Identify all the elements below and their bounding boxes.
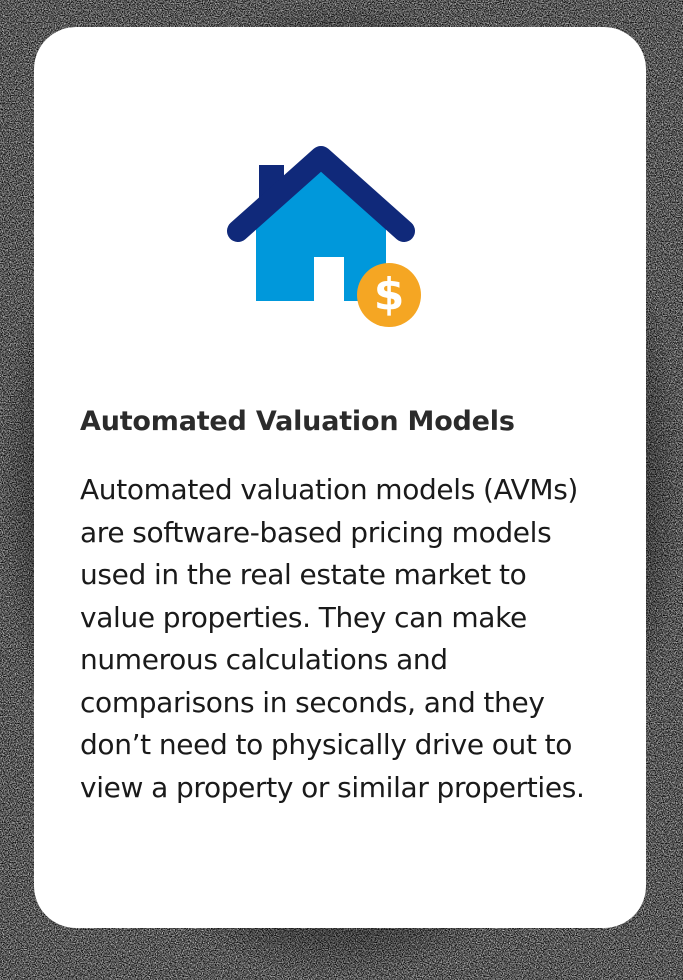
card-icon-area: $ (34, 27, 646, 387)
dollar-badge-symbol: $ (374, 269, 405, 320)
house-with-dollar-icon: $ (226, 145, 426, 335)
card-body-text: Automated valuation models (AVMs) are so… (80, 469, 608, 809)
info-card: $ Automated Valuation Models Automated v… (34, 27, 646, 928)
card-heading: Automated Valuation Models (80, 405, 620, 439)
page-root: $ Automated Valuation Models Automated v… (0, 0, 683, 980)
